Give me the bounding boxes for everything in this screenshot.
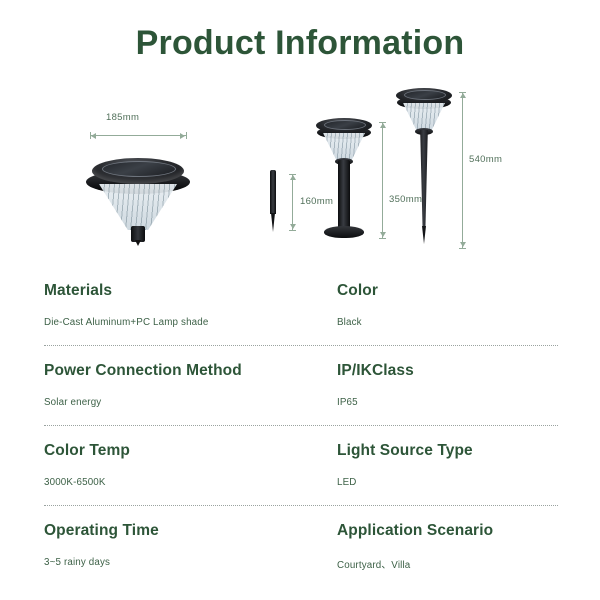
- spec-key: Materials: [44, 282, 334, 300]
- spec-key: Color Temp: [44, 442, 334, 460]
- product-image-ground-spike: [268, 170, 278, 232]
- spec-cell-color: Color Black: [337, 282, 600, 328]
- dimension-cap-bottom-350mm: [379, 238, 386, 239]
- spec-row: Color Temp 3000K-6500K Light Source Type…: [44, 442, 558, 522]
- spec-key: Color: [337, 282, 600, 300]
- bollard-lamp-post: [338, 160, 350, 230]
- spec-divider: [44, 345, 558, 346]
- dimension-line-185mm: [90, 135, 186, 136]
- dimension-line-350mm: [382, 122, 383, 238]
- spec-cell-application-scenario: Application Scenario Courtyard、Villa: [337, 522, 600, 571]
- dimension-line-160mm: [292, 174, 293, 230]
- product-image-lamp-head: [86, 158, 190, 244]
- dimension-label-185mm: 185mm: [106, 112, 139, 123]
- lamp-head-tip: [135, 240, 141, 246]
- ground-spike-body: [270, 170, 276, 214]
- spec-key: Operating Time: [44, 522, 334, 540]
- dimension-arrow-left-185mm: [91, 133, 96, 139]
- dimension-line-540mm: [462, 92, 463, 248]
- spec-value: LED: [337, 477, 600, 488]
- dimension-arrow-right-185mm: [180, 133, 185, 139]
- spec-cell-materials: Materials Die-Cast Aluminum+PC Lamp shad…: [44, 282, 334, 328]
- spec-key: Light Source Type: [337, 442, 600, 460]
- product-illustrations: 185mm 160mm: [0, 82, 600, 254]
- dimension-arrow-bottom-540mm: [460, 242, 466, 247]
- dimension-arrow-top-350mm: [380, 123, 386, 128]
- spec-key: Power Connection Method: [44, 362, 334, 380]
- spec-value: Solar energy: [44, 397, 334, 408]
- stake-lamp-pole: [418, 130, 430, 228]
- spec-value: Black: [337, 317, 600, 328]
- product-information-page: Product Information 185mm 160mm: [0, 0, 600, 600]
- spec-value: Courtyard、Villa: [337, 557, 600, 571]
- lamp-head-solar-panel-face: [102, 161, 176, 177]
- dimension-cap-right-185mm: [186, 132, 187, 139]
- stake-lamp-solar-panel-face: [404, 90, 446, 100]
- stake-lamp-ground-stake: [422, 226, 426, 244]
- bollard-lamp-solar-panel-face: [324, 120, 366, 130]
- dimension-arrow-top-540mm: [460, 93, 466, 98]
- spec-value: Die-Cast Aluminum+PC Lamp shade: [44, 317, 334, 328]
- spec-row: Materials Die-Cast Aluminum+PC Lamp shad…: [44, 282, 558, 362]
- spec-row: Power Connection Method Solar energy IP/…: [44, 362, 558, 442]
- dimension-cap-bottom-540mm: [459, 248, 466, 249]
- spec-key: IP/IKClass: [337, 362, 600, 380]
- spec-cell-light-source-type: Light Source Type LED: [337, 442, 600, 488]
- page-title: Product Information: [0, 24, 600, 63]
- product-image-stake-lamp: [396, 88, 452, 246]
- spec-divider: [44, 425, 558, 426]
- spec-cell-power-connection-method: Power Connection Method Solar energy: [44, 362, 334, 408]
- spec-value: 3000K-6500K: [44, 477, 334, 488]
- spec-cell-color-temp: Color Temp 3000K-6500K: [44, 442, 334, 488]
- spec-cell-ip-ik-class: IP/IKClass IP65: [337, 362, 600, 408]
- dimension-cap-bottom-160mm: [289, 230, 296, 231]
- spec-value: IP65: [337, 397, 600, 408]
- dimension-arrow-bottom-350mm: [380, 232, 386, 237]
- spec-value: 3~5 rainy days: [44, 557, 334, 568]
- bollard-lamp-base: [324, 226, 364, 238]
- ground-spike-point: [271, 213, 275, 232]
- product-image-bollard-lamp: [316, 118, 372, 240]
- spec-divider: [44, 505, 558, 506]
- dimension-arrow-top-160mm: [290, 175, 296, 180]
- lamp-head-shade-ribs: [99, 184, 177, 230]
- dimension-arrow-bottom-160mm: [290, 224, 296, 229]
- spec-cell-operating-time: Operating Time 3~5 rainy days: [44, 522, 334, 568]
- spec-key: Application Scenario: [337, 522, 600, 540]
- spec-row: Operating Time 3~5 rainy days Applicatio…: [44, 522, 558, 584]
- dimension-label-540mm: 540mm: [469, 154, 502, 165]
- specifications-table: Materials Die-Cast Aluminum+PC Lamp shad…: [44, 282, 558, 584]
- lamp-head-stem: [131, 226, 145, 242]
